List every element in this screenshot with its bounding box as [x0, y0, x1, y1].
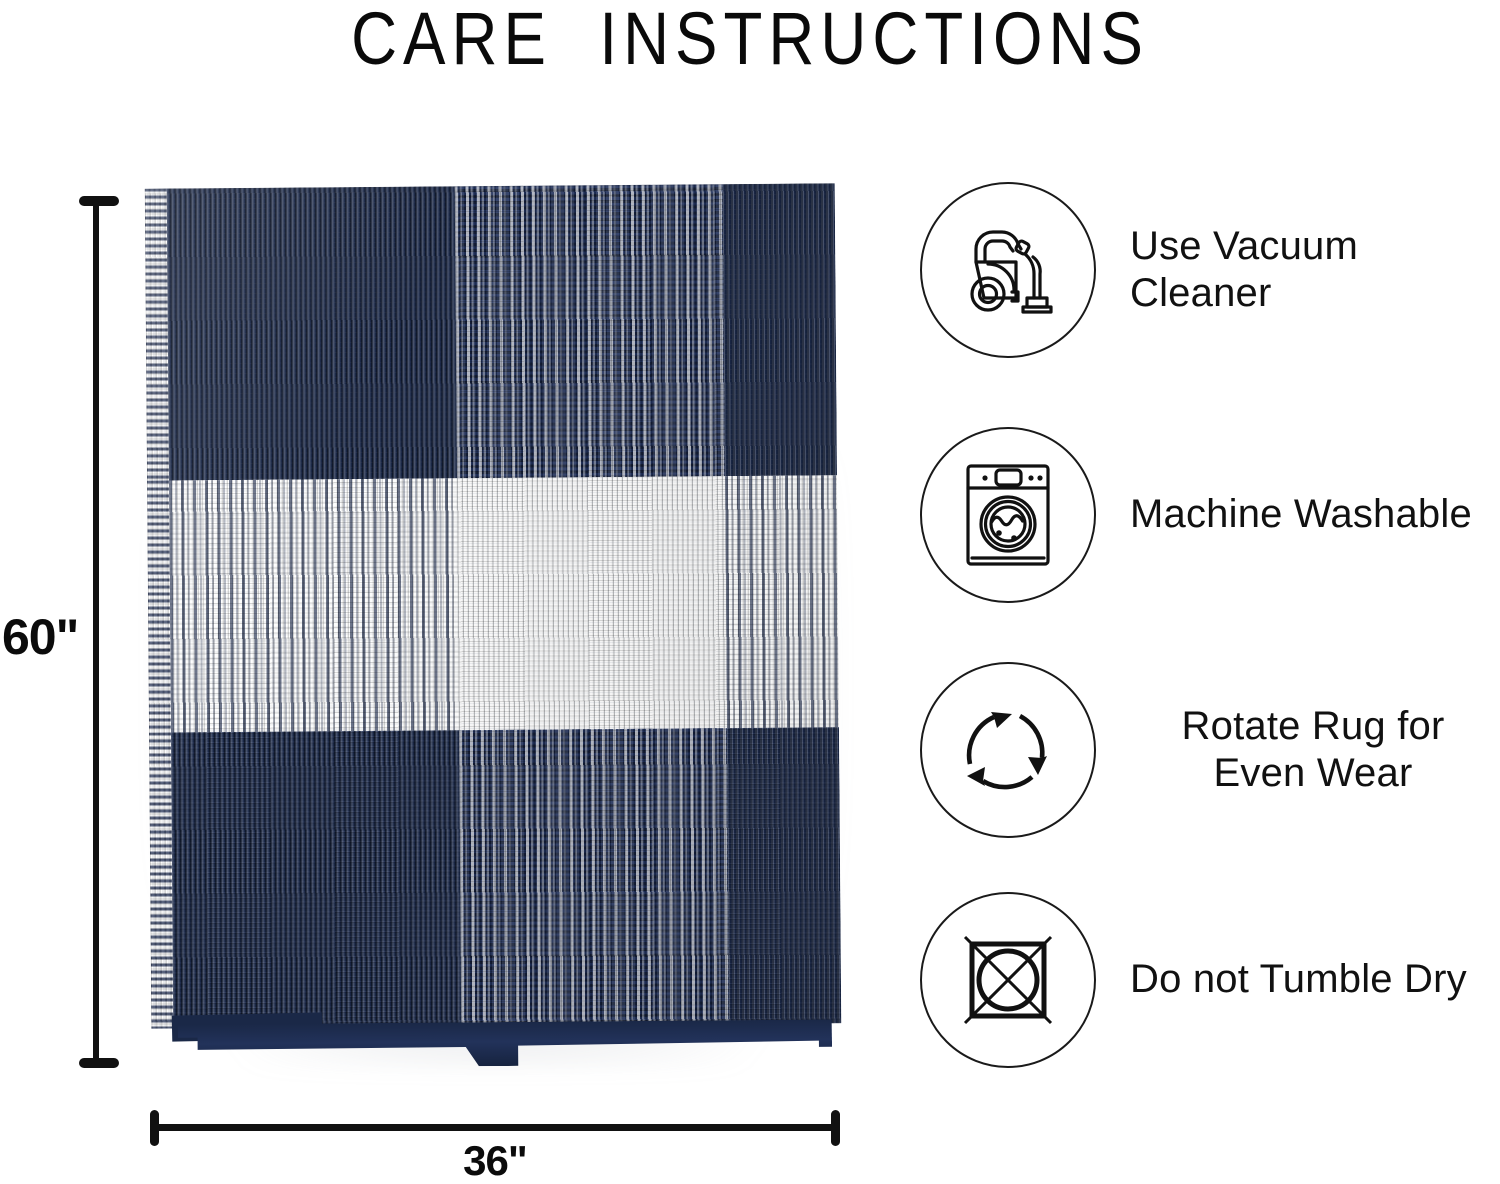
height-dimension-cap-top	[79, 196, 119, 206]
rug-cell-light-r2c1	[169, 478, 459, 732]
care-item-no-tumble-dry: Do not Tumble Dry	[920, 890, 1500, 1070]
care-item-label-no-tumble-dry: Do not Tumble Dry	[1130, 956, 1467, 1003]
rug-cell-edge-left-middle	[147, 481, 171, 733]
height-dimension-label: 60"	[2, 612, 78, 662]
care-instructions-infographic: CARE INSTRUCTIONS	[0, 0, 1500, 1184]
rug-weave-surface	[145, 183, 842, 1028]
height-dimension-stem	[93, 196, 99, 1068]
care-item-label-machine-wash: Machine Washable	[1130, 491, 1472, 538]
care-icon-badge-no-tumble-dry	[920, 892, 1096, 1068]
rug-cell-mid-r3c2	[459, 728, 729, 1026]
care-item-label-rotate: Rotate Rug for Even Wear	[1130, 703, 1496, 797]
rug-cell-edge-left-top	[145, 189, 169, 481]
care-item-rotate: Rotate Rug for Even Wear	[920, 660, 1500, 840]
rotate-arrows-icon	[950, 692, 1066, 808]
page-title: CARE INSTRUCTIONS	[105, 2, 1395, 76]
vacuum-cleaner-icon	[954, 216, 1062, 324]
rug-cell-navy-r1c1	[167, 186, 457, 480]
rug-cell-navy-r3c1	[171, 730, 461, 1028]
washing-machine-icon	[956, 460, 1060, 570]
care-item-label-vacuum: Use Vacuum Cleaner	[1130, 223, 1496, 317]
rug-cell-navy-r1c3	[723, 183, 837, 476]
height-dimension-line	[88, 196, 102, 1068]
rug-cell-light-r2c3	[725, 475, 839, 728]
rug-cell-edge-left-bottom	[149, 733, 173, 1029]
width-dimension-stem	[150, 1124, 840, 1131]
rug-cell-mid-r1c2	[455, 184, 725, 478]
rug-cell-navy-r3c3	[727, 727, 841, 1024]
width-dimension-label: 36"	[150, 1140, 840, 1182]
rug-cell-white-r2c2	[457, 476, 727, 730]
rug-product-image	[148, 186, 840, 1066]
no-tumble-dry-icon	[956, 928, 1060, 1032]
care-icon-badge-vacuum	[920, 182, 1096, 358]
care-item-machine-wash: Machine Washable	[920, 425, 1500, 605]
care-icon-badge-rotate	[920, 662, 1096, 838]
width-dimension-line	[150, 1120, 840, 1134]
height-dimension-cap-bottom	[79, 1058, 119, 1068]
care-icon-badge-machine-wash	[920, 427, 1096, 603]
care-item-vacuum: Use Vacuum Cleaner	[920, 180, 1500, 360]
